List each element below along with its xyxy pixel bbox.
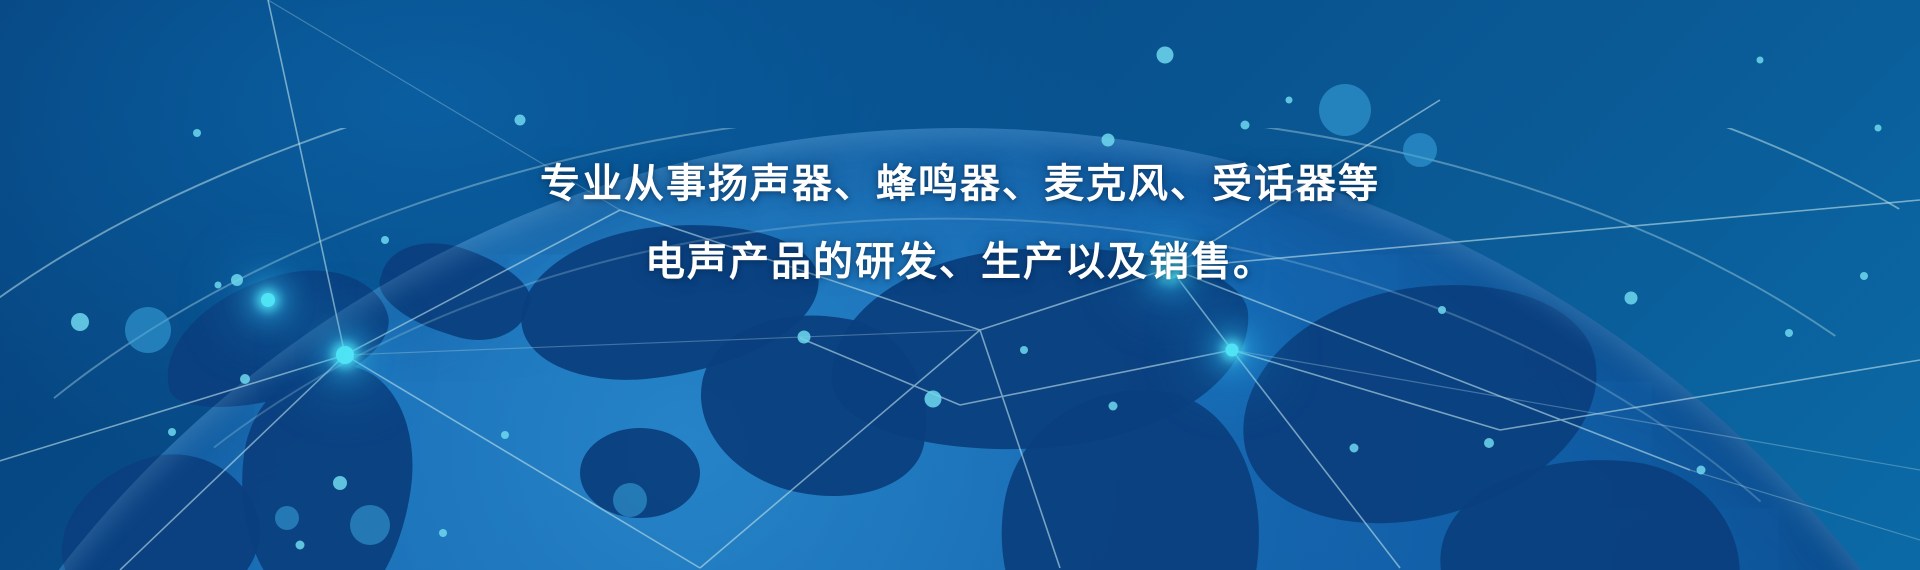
- network-dot: [168, 428, 176, 436]
- network-dot: [439, 529, 447, 537]
- network-dot: [1286, 97, 1293, 104]
- network-dot: [515, 115, 526, 126]
- network-dot: [1757, 57, 1764, 64]
- network-lines: [0, 0, 1920, 570]
- network-dot: [501, 431, 509, 439]
- network-dot: [296, 541, 305, 550]
- glow-node: [1226, 344, 1239, 357]
- network-dot: [1350, 444, 1359, 453]
- network-dot: [1697, 466, 1706, 475]
- glow-node: [261, 293, 275, 307]
- bokeh-circle: [613, 483, 647, 517]
- network-dot: [1157, 47, 1174, 64]
- network-dot: [798, 331, 811, 344]
- bokeh-circle: [350, 505, 390, 545]
- network-dot: [1241, 121, 1250, 130]
- bokeh-circle: [1403, 133, 1437, 167]
- network-dot: [1785, 329, 1793, 337]
- bokeh-circle: [275, 506, 299, 530]
- headline-line-1: 专业从事扬声器、蜂鸣器、麦克风、受话器等: [0, 164, 1920, 204]
- hero-headline: 专业从事扬声器、蜂鸣器、麦克风、受话器等 电声产品的研发、生产以及销售。: [0, 164, 1920, 282]
- network-dot: [1484, 438, 1494, 448]
- glow-node: [336, 346, 354, 364]
- bokeh-circle: [125, 307, 171, 353]
- network-dot: [1020, 346, 1028, 354]
- headline-line-2: 电声产品的研发、生产以及销售。: [0, 242, 1920, 282]
- network-dot: [193, 129, 201, 137]
- network-dot: [1438, 306, 1446, 314]
- network-dot: [71, 313, 89, 331]
- network-dot: [1102, 134, 1115, 147]
- network-dot: [1875, 125, 1882, 132]
- network-dot: [1109, 402, 1118, 411]
- network-dot: [215, 282, 222, 289]
- network-dot: [925, 391, 942, 408]
- network-dot: [240, 374, 250, 384]
- network-dot: [1625, 292, 1638, 305]
- hero-banner: 专业从事扬声器、蜂鸣器、麦克风、受话器等 电声产品的研发、生产以及销售。: [0, 0, 1920, 570]
- network-dot: [333, 476, 347, 490]
- bokeh-circle: [1319, 84, 1371, 136]
